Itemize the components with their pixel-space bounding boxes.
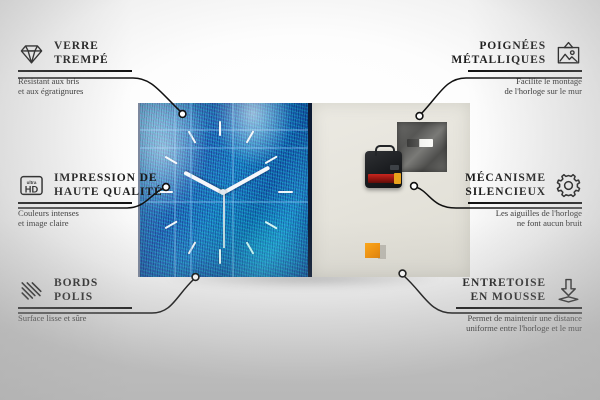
callout-subtitle: Résistant aux bris et aux égratignures: [18, 76, 258, 97]
gear-icon: [555, 172, 582, 199]
metal-hanger-plate: [397, 122, 447, 172]
tick-12: [219, 121, 221, 136]
callout-header: VERRE TREMPÉ: [18, 40, 258, 67]
callout-rule: [456, 307, 582, 309]
tick-1: [246, 130, 255, 143]
callout-bords-polis[interactable]: BORDS POLIS Surface lisse et sûre: [18, 277, 258, 323]
callout-title: ENTRETOISE EN MOUSSE: [462, 277, 546, 304]
callout-entretoise-en-mousse[interactable]: ENTRETOISE EN MOUSSE Permet de maintenir…: [330, 277, 582, 334]
svg-text:HD: HD: [25, 184, 39, 194]
callout-rule: [18, 307, 132, 309]
callout-subtitle: Couleurs intenses et image claire: [18, 208, 258, 229]
tick-5: [246, 241, 255, 254]
diamond-icon: [18, 40, 45, 67]
callout-header: POIGNÉES MÉTALLIQUES: [342, 40, 582, 67]
infographic-canvas: VERRE TREMPÉ Résistant aux bris et aux é…: [0, 0, 600, 400]
tick-6: [219, 249, 221, 264]
callout-title: IMPRESSION DE HAUTE QUALITÉ: [54, 172, 163, 199]
tick-3: [278, 191, 293, 193]
callout-header: BORDS POLIS: [18, 277, 258, 304]
ultra-hd-icon: ultra HD: [18, 172, 45, 199]
tick-4: [265, 220, 278, 229]
tick-2: [265, 155, 278, 164]
foam-spacer-arrow-icon: [555, 277, 582, 304]
callout-poignees-metalliques[interactable]: POIGNÉES MÉTALLIQUES Facilite le montage…: [342, 40, 582, 97]
callout-subtitle: Surface lisse et sûre: [18, 313, 258, 324]
callout-subtitle: Permet de maintenir une distance uniform…: [330, 313, 582, 334]
callout-verre-trempe[interactable]: VERRE TREMPÉ Résistant aux bris et aux é…: [18, 40, 258, 97]
callout-subtitle: Facilite le montage de l'horloge sur le …: [342, 76, 582, 97]
hanger-slot: [407, 139, 433, 147]
callout-header: ultra HD IMPRESSION DE HAUTE QUALITÉ: [18, 172, 258, 199]
mechanism-hook: [375, 145, 395, 156]
callout-rule: [468, 70, 582, 72]
polished-edges-icon: [18, 277, 45, 304]
foam-spacer: [365, 243, 380, 258]
callout-title: VERRE TREMPÉ: [54, 40, 109, 67]
decor-line: [140, 129, 311, 131]
picture-hanger-icon: [555, 40, 582, 67]
mechanism-detail: [390, 165, 399, 170]
callout-rule: [18, 202, 132, 204]
callout-title: MÉCANISME SILENCIEUX: [465, 172, 546, 199]
callout-rule: [468, 202, 582, 204]
callout-impression-haute-qualite[interactable]: ultra HD IMPRESSION DE HAUTE QUALITÉ Cou…: [18, 172, 258, 229]
callout-subtitle: Les aiguilles de l'horloge ne font aucun…: [342, 208, 582, 229]
tick-7: [188, 241, 197, 254]
callout-title: POIGNÉES MÉTALLIQUES: [451, 40, 546, 67]
callout-mecanisme-silencieux[interactable]: MÉCANISME SILENCIEUX Les aiguilles de l'…: [342, 172, 582, 229]
tick-10: [165, 155, 178, 164]
callout-rule: [18, 70, 132, 72]
callout-header: MÉCANISME SILENCIEUX: [342, 172, 582, 199]
callout-title: BORDS POLIS: [54, 277, 98, 304]
callout-header: ENTRETOISE EN MOUSSE: [330, 277, 582, 304]
tick-11: [188, 130, 197, 143]
